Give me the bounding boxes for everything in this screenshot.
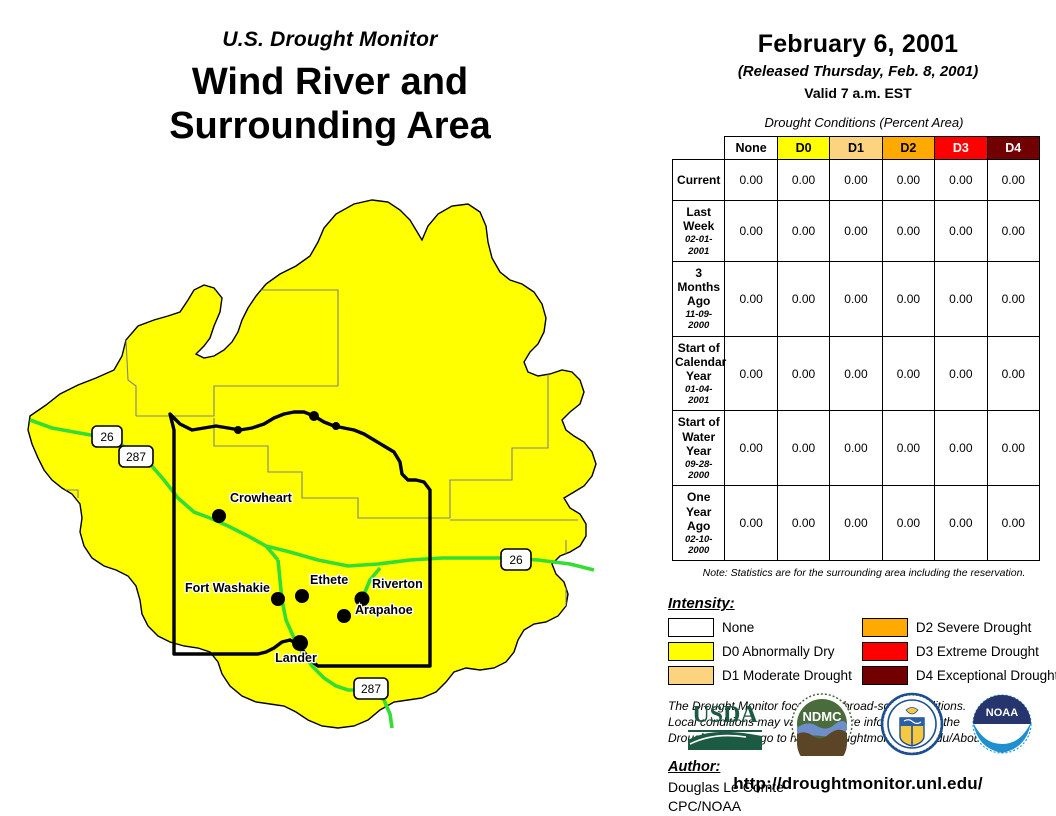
- footer-url[interactable]: http://droughtmonitor.unl.edu/: [660, 774, 1056, 794]
- shield-hwy-287-south: 287: [354, 678, 388, 699]
- cell-wy-d4: 0.00: [987, 411, 1039, 486]
- row-label-text-l2: Calendar Year: [675, 355, 726, 383]
- report-date: February 6, 2001: [660, 30, 1056, 59]
- cell-1yr-d4: 0.00: [987, 486, 1039, 561]
- table-row-current: Current 0.00 0.00 0.00 0.00 0.00 0.00: [673, 160, 1040, 201]
- city-label-lander: Lander: [275, 651, 317, 665]
- row-label-text: One Year Ago: [686, 490, 711, 532]
- row-label-start-calendar-year: Start of Calendar Year 01-04-2001: [673, 336, 725, 411]
- reservation-node-north-c: [234, 426, 242, 434]
- row-label-date: 02-10-2000: [675, 534, 722, 556]
- cell-3mo-d3: 0.00: [935, 261, 987, 336]
- date-block: February 6, 2001 (Released Thursday, Feb…: [660, 0, 1056, 101]
- shield-hwy-287-west: 287: [119, 446, 153, 467]
- city-label-riverton: Riverton: [372, 577, 423, 591]
- legend-title: Intensity:: [668, 595, 1056, 612]
- city-dot-arapahoe: [337, 609, 351, 623]
- legend-item-d1: D1 Moderate Drought: [668, 666, 852, 685]
- shield-hwy-26-east: 26: [501, 549, 531, 570]
- city-label-crowheart: Crowheart: [230, 491, 293, 505]
- release-date: (Released Thursday, Feb. 8, 2001): [660, 63, 1056, 80]
- noaa-logo: NOAA: [970, 692, 1034, 756]
- valid-time: Valid 7 a.m. EST: [660, 85, 1056, 101]
- legend-swatch-d1: [668, 666, 714, 685]
- cell-cy-d4: 0.00: [987, 336, 1039, 411]
- city-label-ethete: Ethete: [310, 573, 348, 587]
- cell-current-d1: 0.00: [830, 160, 882, 201]
- column-header-d0: D0: [777, 137, 829, 160]
- svg-text:287: 287: [361, 682, 381, 696]
- legend-item-d2: D2 Severe Drought: [862, 618, 1056, 637]
- drought-map: 26 287 26 287 Crowheart Fort Washakie Et…: [18, 180, 658, 760]
- legend-label-d3: D3 Extreme Drought: [916, 644, 1039, 659]
- reservation-node-north-b: [332, 422, 340, 430]
- cell-current-none: 0.00: [725, 160, 777, 201]
- row-label-date: 11-09-2000: [675, 309, 722, 331]
- legend-swatch-d3: [862, 642, 908, 661]
- legend-label-d0: D0 Abnormally Dry: [722, 644, 835, 659]
- legend-swatch-d0: [668, 642, 714, 661]
- cell-wy-d1: 0.00: [830, 411, 882, 486]
- column-header-d4: D4: [987, 137, 1039, 160]
- cell-last-week-none: 0.00: [725, 201, 777, 262]
- svg-text:USDA: USDA: [692, 702, 758, 728]
- cell-1yr-d2: 0.00: [882, 486, 934, 561]
- row-label-date: 01-04-2001: [675, 384, 722, 406]
- cell-3mo-d2: 0.00: [882, 261, 934, 336]
- cell-wy-none: 0.00: [725, 411, 777, 486]
- cell-3mo-d4: 0.00: [987, 261, 1039, 336]
- city-label-arapahoe: Arapahoe: [355, 603, 413, 617]
- cell-last-week-d4: 0.00: [987, 201, 1039, 262]
- column-header-d2: D2: [882, 137, 934, 160]
- row-label-text-l1: Start of: [678, 415, 720, 429]
- page-title-line2: Surrounding Area: [0, 104, 660, 148]
- row-label-start-water-year: Start of Water Year 09-28-2000: [673, 411, 725, 486]
- city-label-fort-washakie: Fort Washakie: [185, 581, 270, 595]
- table-row-3-months-ago: 3 Months Ago 11-09-2000 0.00 0.00 0.00 0…: [673, 261, 1040, 336]
- cell-cy-d0: 0.00: [777, 336, 829, 411]
- cell-3mo-d0: 0.00: [777, 261, 829, 336]
- row-label-text: Current: [677, 173, 720, 187]
- svg-text:26: 26: [100, 430, 114, 444]
- city-dot-crowheart: [212, 509, 226, 523]
- title-block: U.S. Drought Monitor Wind River and Surr…: [0, 28, 660, 148]
- legend-swatch-none: [668, 618, 714, 637]
- svg-text:26: 26: [509, 553, 523, 567]
- svg-text:NOAA: NOAA: [986, 707, 1018, 719]
- intensity-legend: Intensity: None D0 Abnormally Dry D1 Mod…: [668, 595, 1056, 685]
- city-dot-lander: [292, 635, 308, 651]
- row-label-date: 02-01-2001: [675, 234, 722, 256]
- svg-text:287: 287: [126, 450, 146, 464]
- cell-1yr-d3: 0.00: [935, 486, 987, 561]
- cell-last-week-d2: 0.00: [882, 201, 934, 262]
- row-label-one-year-ago: One Year Ago 02-10-2000: [673, 486, 725, 561]
- city-dot-ethete: [295, 589, 309, 603]
- drought-conditions-table: None D0 D1 D2 D3 D4 Current 0.00 0.00 0.…: [672, 136, 1040, 561]
- row-label-text-l1: Start of: [678, 341, 720, 355]
- cell-1yr-none: 0.00: [725, 486, 777, 561]
- ndmc-logo: NDMC: [790, 692, 854, 756]
- row-label-text: 3 Months Ago: [677, 266, 720, 308]
- cell-wy-d0: 0.00: [777, 411, 829, 486]
- cell-wy-d2: 0.00: [882, 411, 934, 486]
- legend-label-d1: D1 Moderate Drought: [722, 668, 852, 683]
- cell-cy-none: 0.00: [725, 336, 777, 411]
- cell-current-d3: 0.00: [935, 160, 987, 201]
- table-row-start-calendar-year: Start of Calendar Year 01-04-2001 0.00 0…: [673, 336, 1040, 411]
- row-label-last-week: Last Week 02-01-2001: [673, 201, 725, 262]
- table-header-row: None D0 D1 D2 D3 D4: [673, 137, 1040, 160]
- cell-3mo-none: 0.00: [725, 261, 777, 336]
- row-label-text: Last Week: [683, 205, 714, 233]
- info-panel: February 6, 2001 (Released Thursday, Feb…: [660, 0, 1056, 816]
- legend-label-d2: D2 Severe Drought: [916, 620, 1032, 635]
- cell-cy-d2: 0.00: [882, 336, 934, 411]
- svg-text:NDMC: NDMC: [803, 709, 843, 724]
- column-header-none: None: [725, 137, 777, 160]
- column-header-d3: D3: [935, 137, 987, 160]
- cell-1yr-d1: 0.00: [830, 486, 882, 561]
- drought-area-d0: [28, 200, 596, 728]
- table-corner-cell: [673, 137, 725, 160]
- cell-cy-d3: 0.00: [935, 336, 987, 411]
- cell-current-d2: 0.00: [882, 160, 934, 201]
- table-note: Note: Statistics are for the surrounding…: [672, 567, 1056, 579]
- commerce-seal: [880, 692, 944, 756]
- table-caption: Drought Conditions (Percent Area): [672, 115, 1056, 130]
- legend-item-none: None: [668, 618, 852, 637]
- cell-3mo-d1: 0.00: [830, 261, 882, 336]
- program-title: U.S. Drought Monitor: [0, 28, 660, 52]
- shield-hwy-26-west: 26: [92, 426, 122, 447]
- page-title: Wind River and Surrounding Area: [0, 60, 660, 148]
- row-label-3-months-ago: 3 Months Ago 11-09-2000: [673, 261, 725, 336]
- map-svg: 26 287 26 287 Crowheart Fort Washakie Et…: [18, 180, 658, 760]
- row-label-current: Current: [673, 160, 725, 201]
- cell-current-d0: 0.00: [777, 160, 829, 201]
- page-title-line1: Wind River and: [0, 60, 660, 104]
- cell-1yr-d0: 0.00: [777, 486, 829, 561]
- cell-current-d4: 0.00: [987, 160, 1039, 201]
- cell-last-week-d0: 0.00: [777, 201, 829, 262]
- legend-swatch-d4: [862, 666, 908, 685]
- cell-last-week-d3: 0.00: [935, 201, 987, 262]
- legend-swatch-d2: [862, 618, 908, 637]
- legend-label-d4: D4 Exceptional Drought: [916, 668, 1056, 683]
- table-row-last-week: Last Week 02-01-2001 0.00 0.00 0.00 0.00…: [673, 201, 1040, 262]
- cell-last-week-d1: 0.00: [830, 201, 882, 262]
- row-label-date: 09-28-2000: [675, 459, 722, 481]
- city-dot-fort-washakie: [271, 592, 285, 606]
- column-header-d1: D1: [830, 137, 882, 160]
- author-affiliation: CPC/NOAA: [668, 797, 1056, 816]
- logo-row: USDA NDMC: [664, 692, 1056, 756]
- table-row-one-year-ago: One Year Ago 02-10-2000 0.00 0.00 0.00 0…: [673, 486, 1040, 561]
- reservation-node-north-a: [309, 411, 319, 421]
- cell-cy-d1: 0.00: [830, 336, 882, 411]
- author-heading: Author:: [668, 759, 1056, 775]
- legend-label-none: None: [722, 620, 754, 635]
- legend-item-d3: D3 Extreme Drought: [862, 642, 1056, 661]
- table-row-start-water-year: Start of Water Year 09-28-2000 0.00 0.00…: [673, 411, 1040, 486]
- legend-item-d4: D4 Exceptional Drought: [862, 666, 1056, 685]
- usda-logo: USDA: [686, 696, 764, 752]
- row-label-text-l2: Water Year: [682, 430, 715, 458]
- legend-item-d0: D0 Abnormally Dry: [668, 642, 852, 661]
- cell-wy-d3: 0.00: [935, 411, 987, 486]
